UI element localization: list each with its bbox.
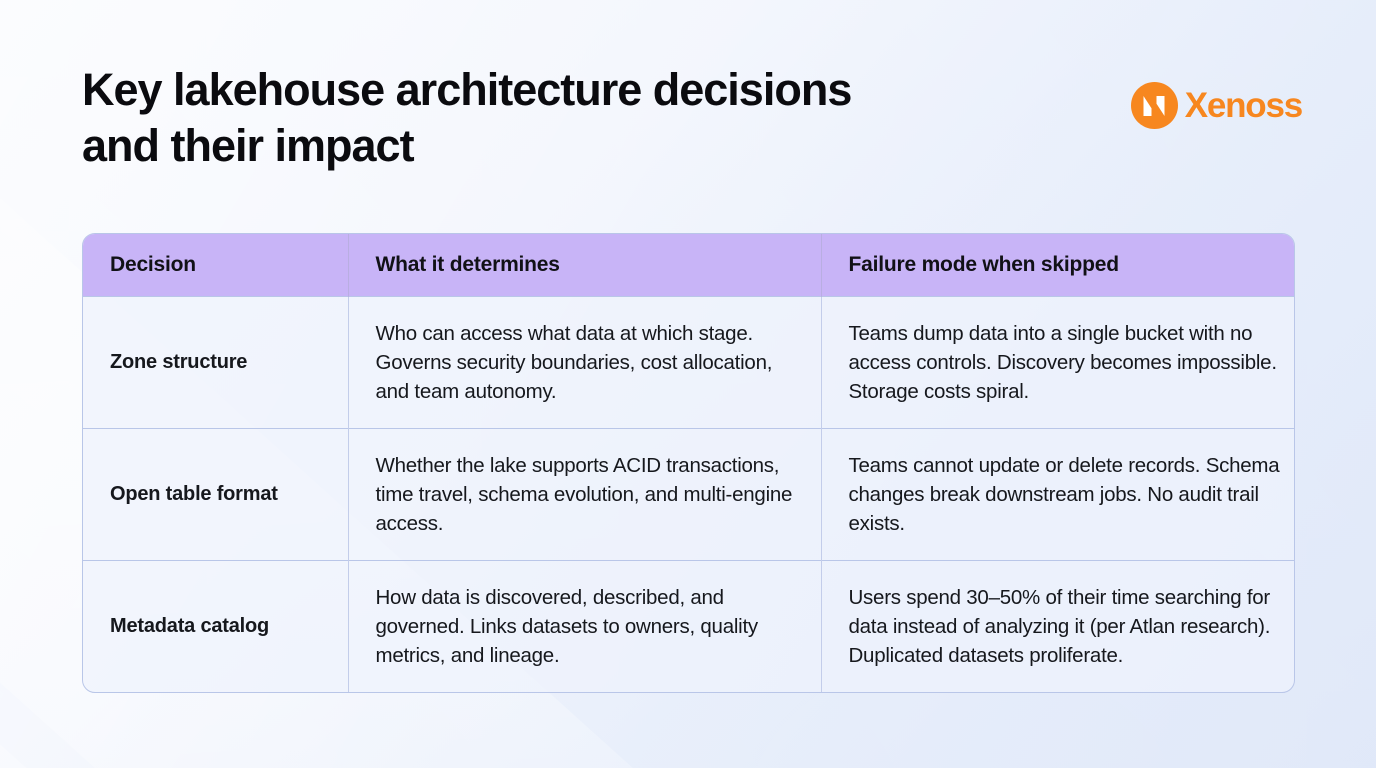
cell-determines: Who can access what data at which stage.… (348, 297, 821, 429)
slide-header: Key lakehouse architecture decisions and… (82, 62, 1302, 174)
table-row: Open table format Whether the lake suppo… (83, 429, 1295, 561)
cell-decision: Open table format (83, 429, 348, 561)
xenoss-logo: Xenoss (1131, 82, 1302, 129)
column-header-what-it-determines: What it determines (348, 234, 821, 297)
decisions-table: Decision What it determines Failure mode… (82, 233, 1295, 693)
logo-wordmark: Xenoss (1185, 86, 1302, 126)
cell-determines: Whether the lake supports ACID transacti… (348, 429, 821, 561)
page-title-line-1: Key lakehouse architecture decisions (82, 62, 851, 118)
cell-failure: Teams cannot update or delete records. S… (821, 429, 1295, 561)
table-row: Metadata catalog How data is discovered,… (83, 561, 1295, 693)
page-title: Key lakehouse architecture decisions and… (82, 62, 851, 174)
cell-failure: Users spend 30–50% of their time searchi… (821, 561, 1295, 693)
column-header-failure-mode: Failure mode when skipped (821, 234, 1295, 297)
cell-determines: How data is discovered, described, and g… (348, 561, 821, 693)
cell-decision: Zone structure (83, 297, 348, 429)
table-row: Zone structure Who can access what data … (83, 297, 1295, 429)
column-header-decision: Decision (83, 234, 348, 297)
cell-decision: Metadata catalog (83, 561, 348, 693)
xenoss-circle-x-icon (1131, 82, 1178, 129)
page-title-line-2: and their impact (82, 118, 851, 174)
cell-failure: Teams dump data into a single bucket wit… (821, 297, 1295, 429)
table-header-row: Decision What it determines Failure mode… (83, 234, 1295, 297)
